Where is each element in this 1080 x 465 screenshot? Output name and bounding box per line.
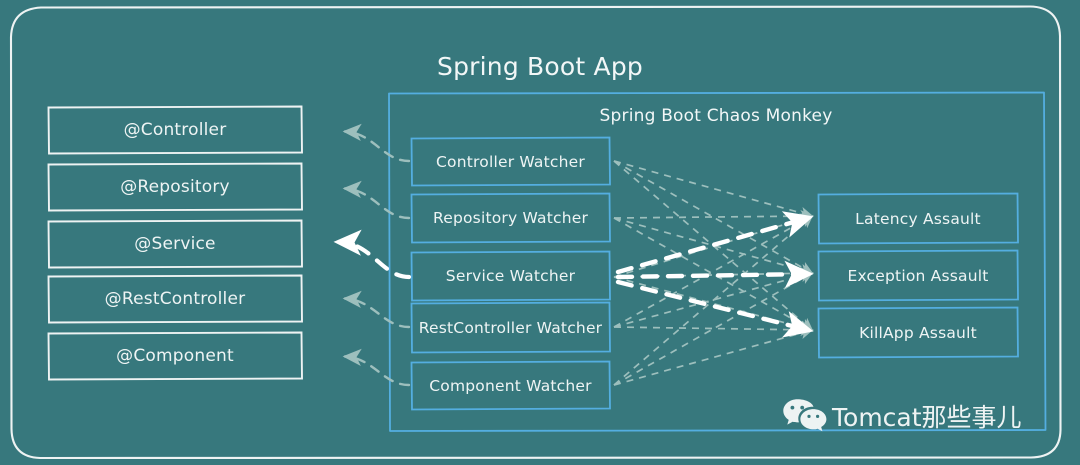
wechat-icon (782, 398, 828, 434)
watermark-text: Tomcat那些事儿 (832, 398, 1022, 434)
outer-frame (11, 7, 1061, 459)
chaos-monkey-container (389, 93, 1046, 432)
watcher-to-annotation-connectors (345, 132, 409, 386)
service-watcher-to-service-connector (339, 242, 409, 277)
diagram-canvas: Spring Boot App Spring Boot Chaos Monkey… (0, 0, 1080, 465)
service-watcher-to-assault-connectors (618, 218, 808, 330)
annotation-boxes (49, 107, 303, 380)
watermark: Tomcat那些事儿 (782, 392, 1050, 440)
watcher-boxes (412, 138, 611, 410)
assault-boxes (819, 194, 1019, 358)
